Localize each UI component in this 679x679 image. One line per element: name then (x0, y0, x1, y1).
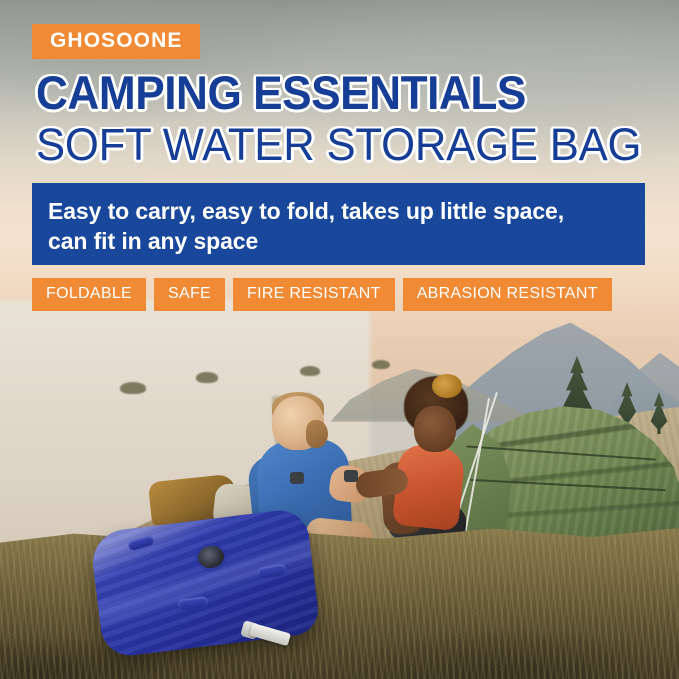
description-line-1: Easy to carry, easy to fold, takes up li… (48, 196, 629, 226)
feature-tag-abrasion-resistant: ABRASION RESISTANT (403, 278, 612, 311)
feature-tag-safe: SAFE (154, 278, 225, 311)
woman-head (414, 406, 456, 452)
woman-hair-bun (432, 374, 462, 398)
shrub (120, 382, 146, 394)
feature-tag-foldable: FOLDABLE (32, 278, 146, 311)
man-beard (306, 420, 328, 448)
product-banner: GHOSOONE CAMPING ESSENTIALS SOFT WATER S… (0, 0, 679, 679)
shrub (196, 372, 218, 383)
shrub (300, 366, 320, 376)
shrub (372, 360, 390, 369)
headline-line-1: CAMPING ESSENTIALS (36, 68, 638, 118)
page-title: CAMPING ESSENTIALS SOFT WATER STORAGE BA… (36, 68, 676, 170)
description-line-2: can fit in any space (48, 226, 629, 256)
headline-line-2: SOFT WATER STORAGE BAG (36, 120, 657, 170)
cup (344, 470, 358, 482)
feature-tag-list: FOLDABLE SAFE FIRE RESISTANT ABRASION RE… (32, 278, 612, 311)
feature-tag-fire-resistant: FIRE RESISTANT (233, 278, 395, 311)
cup (290, 472, 304, 484)
description-banner: Easy to carry, easy to fold, takes up li… (32, 183, 645, 265)
brand-badge: GHOSOONE (32, 24, 200, 59)
